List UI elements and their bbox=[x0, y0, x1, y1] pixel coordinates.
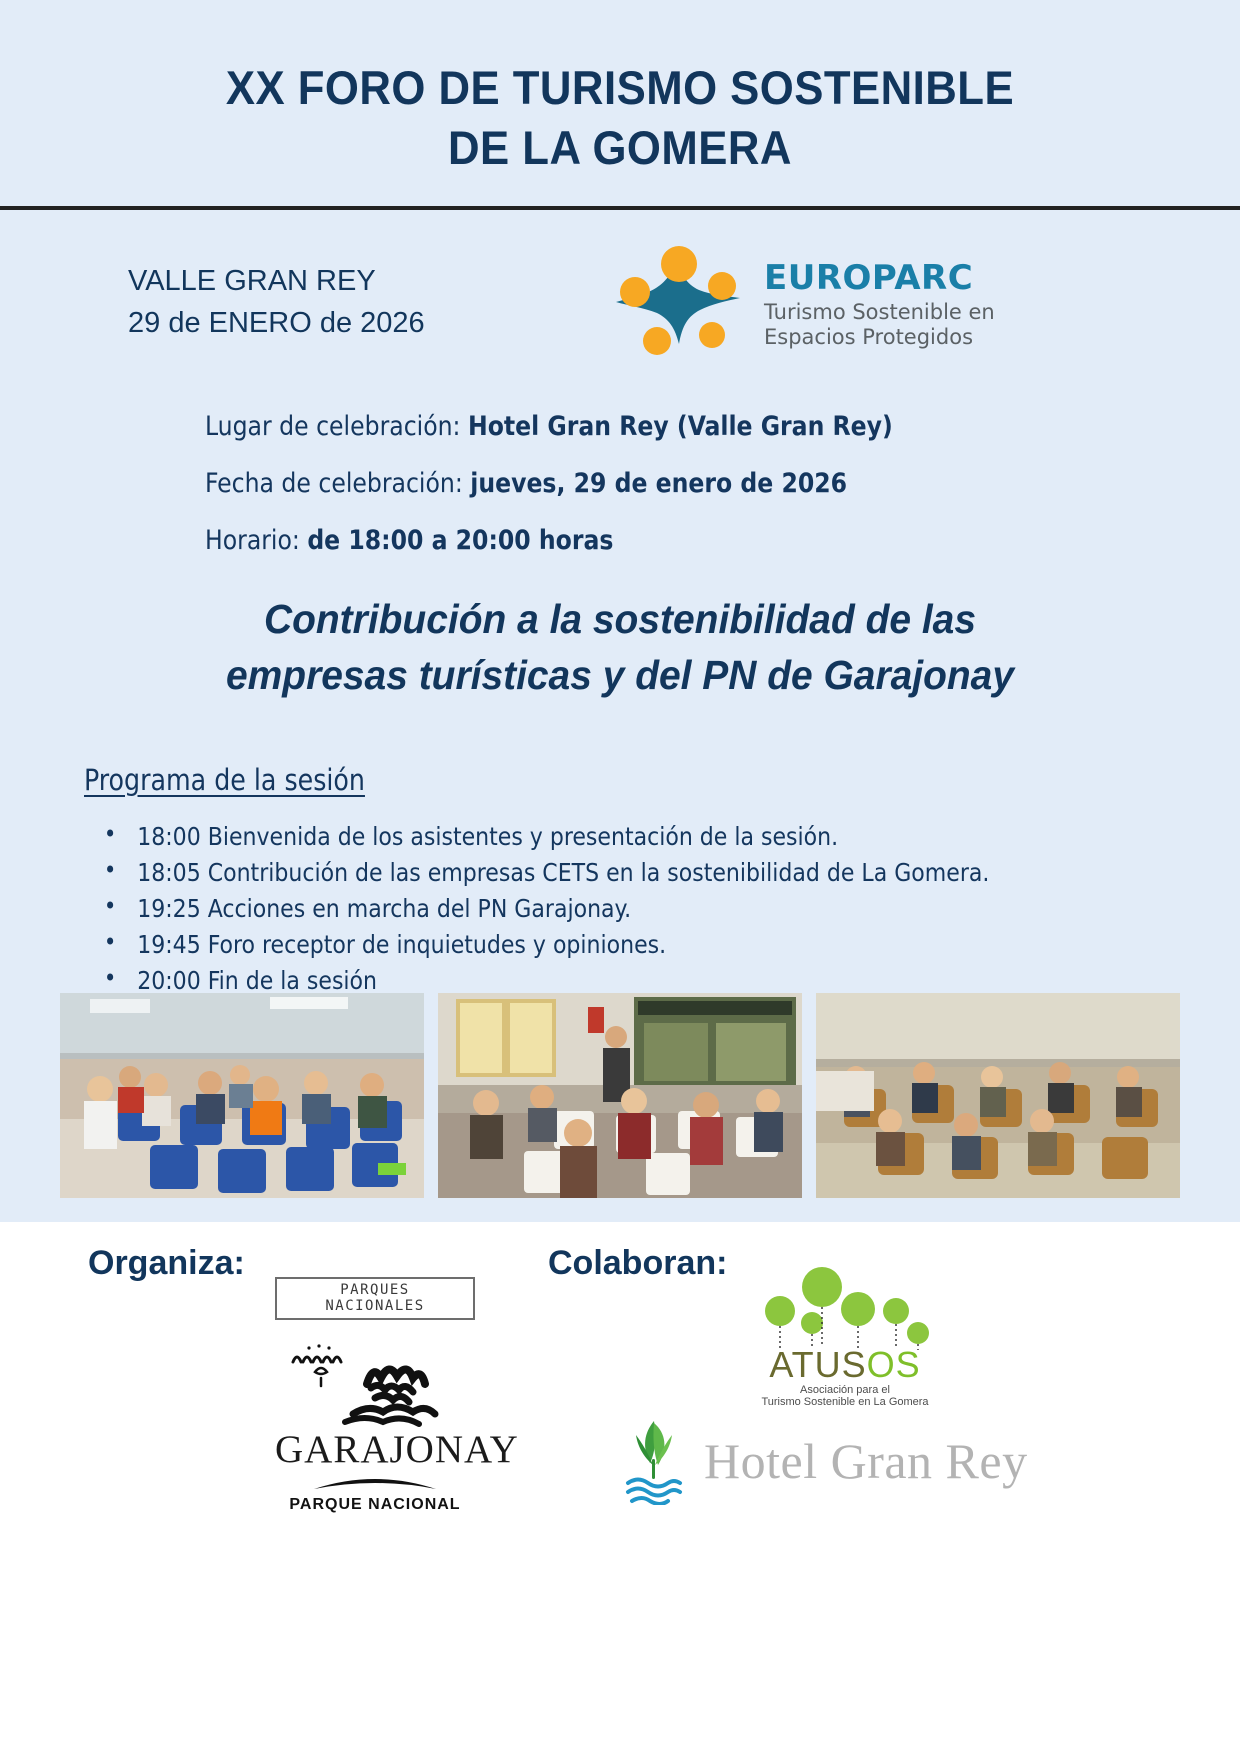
europarc-tagline: Turismo Sostenible en Espacios Protegido… bbox=[764, 300, 995, 351]
hotel-gran-rey-logo: Hotel Gran Rey bbox=[620, 1417, 1028, 1505]
poster-title-block: XX FORO DE TURISMO SOSTENIBLE DE LA GOME… bbox=[0, 0, 1240, 178]
detail-date-value: jueves, 29 de enero de 2026 bbox=[470, 468, 847, 499]
session-subtitle-line-2: empresas turísticas y del PN de Garajona… bbox=[107, 648, 1133, 703]
atusos-subtitle-2: Turismo Sostenible en La Gomera bbox=[735, 1396, 955, 1408]
detail-date: Fecha de celebración: jueves, 29 de ener… bbox=[205, 470, 1209, 497]
program-section: Programa de la sesión 18:00 Bienvenida d… bbox=[0, 763, 1240, 999]
europarc-dot-top bbox=[661, 246, 697, 282]
organiza-label: Organiza: bbox=[88, 1244, 245, 1283]
detail-time-value: de 18:00 a 20:00 horas bbox=[307, 525, 613, 556]
program-heading: Programa de la sesión bbox=[84, 763, 1205, 797]
hotel-leaf-waves-icon bbox=[620, 1417, 688, 1505]
atusos-wordmark: ATUSOS bbox=[735, 1347, 955, 1383]
event-place: VALLE GRAN REY bbox=[128, 260, 580, 302]
detail-venue: Lugar de celebración: Hotel Gran Rey (Va… bbox=[205, 413, 1209, 440]
atusos-name-part1: ATUS bbox=[769, 1344, 866, 1385]
detail-time-label: Horario: bbox=[205, 525, 307, 556]
europarc-tagline-line-1: Turismo Sostenible en bbox=[764, 300, 995, 326]
parques-nacionales-box: PARQUES NACIONALES bbox=[275, 1277, 475, 1320]
page-title-line-2: DE LA GOMERA bbox=[43, 118, 1196, 178]
europarc-dot-bottom-right bbox=[699, 322, 725, 348]
photo-hall-wooden-chairs bbox=[816, 993, 1180, 1198]
detail-venue-label: Lugar de celebración: bbox=[205, 411, 468, 442]
europarc-name: EUROPARC bbox=[764, 261, 995, 295]
list-item: 19:25 Acciones en marcha del PN Garajona… bbox=[98, 891, 1217, 927]
page-title-line-1: XX FORO DE TURISMO SOSTENIBLE bbox=[43, 58, 1196, 118]
sponsors-area: Organiza: Colaboran: PARQUES NACIONALES bbox=[0, 1222, 1240, 1754]
photo-speaker-presentation bbox=[438, 993, 802, 1198]
europarc-star-people-icon bbox=[600, 240, 750, 365]
europarc-logo: EUROPARC Turismo Sostenible en Espacios … bbox=[600, 240, 995, 365]
location-and-logo-row: VALLE GRAN REY 29 de ENERO de 2026 EUROP… bbox=[0, 210, 1240, 365]
photo-meeting-blue-chairs bbox=[60, 993, 424, 1198]
atusos-logo: ATUSOS Asociación para el Turismo Sosten… bbox=[735, 1267, 955, 1408]
list-item: 18:05 Contribución de las empresas CETS … bbox=[98, 855, 1217, 891]
session-subtitle-line-1: Contribución a la sostenibilidad de las bbox=[107, 592, 1133, 647]
session-subtitle: Contribución a la sostenibilidad de las … bbox=[31, 592, 1209, 703]
europarc-wordmark: EUROPARC Turismo Sostenible en Espacios … bbox=[764, 255, 995, 351]
list-item: 19:45 Foro receptor de inquietudes y opi… bbox=[98, 927, 1217, 963]
detail-date-label: Fecha de celebración: bbox=[205, 468, 470, 499]
program-list: 18:00 Bienvenida de los asistentes y pre… bbox=[84, 819, 1240, 999]
hotel-gran-rey-name: Hotel Gran Rey bbox=[704, 1432, 1028, 1490]
europarc-dot-left bbox=[620, 277, 650, 307]
detail-venue-value: Hotel Gran Rey (Valle Gran Rey) bbox=[468, 411, 893, 442]
europarc-dot-bottom-left bbox=[643, 327, 671, 355]
poster: XX FORO DE TURISMO SOSTENIBLE DE LA GOME… bbox=[0, 0, 1240, 1754]
detail-time: Horario: de 18:00 a 20:00 horas bbox=[205, 527, 1209, 554]
event-date: 29 de ENERO de 2026 bbox=[128, 302, 580, 344]
list-item: 18:00 Bienvenida de los asistentes y pre… bbox=[98, 819, 1217, 855]
garajonay-laurel-forest-icon bbox=[275, 1326, 475, 1431]
europarc-dot-right bbox=[708, 272, 736, 300]
garajonay-logo: PARQUES NACIONALES GARAJONAY bbox=[275, 1277, 475, 1514]
garajonay-name: GARAJONAY bbox=[275, 1427, 475, 1472]
europarc-tagline-line-2: Espacios Protegidos bbox=[764, 325, 995, 351]
atusos-subtitle-1: Asociación para el bbox=[735, 1384, 955, 1396]
colaboran-label: Colaboran: bbox=[548, 1244, 727, 1283]
photo-strip bbox=[0, 993, 1240, 1198]
event-details: Lugar de celebración: Hotel Gran Rey (Va… bbox=[0, 365, 1240, 554]
garajonay-arc-icon bbox=[310, 1474, 440, 1492]
event-location-block: VALLE GRAN REY 29 de ENERO de 2026 bbox=[40, 240, 580, 344]
garajonay-subtitle: PARQUE NACIONAL bbox=[275, 1496, 475, 1514]
atusos-name-part2: OS bbox=[867, 1344, 921, 1385]
